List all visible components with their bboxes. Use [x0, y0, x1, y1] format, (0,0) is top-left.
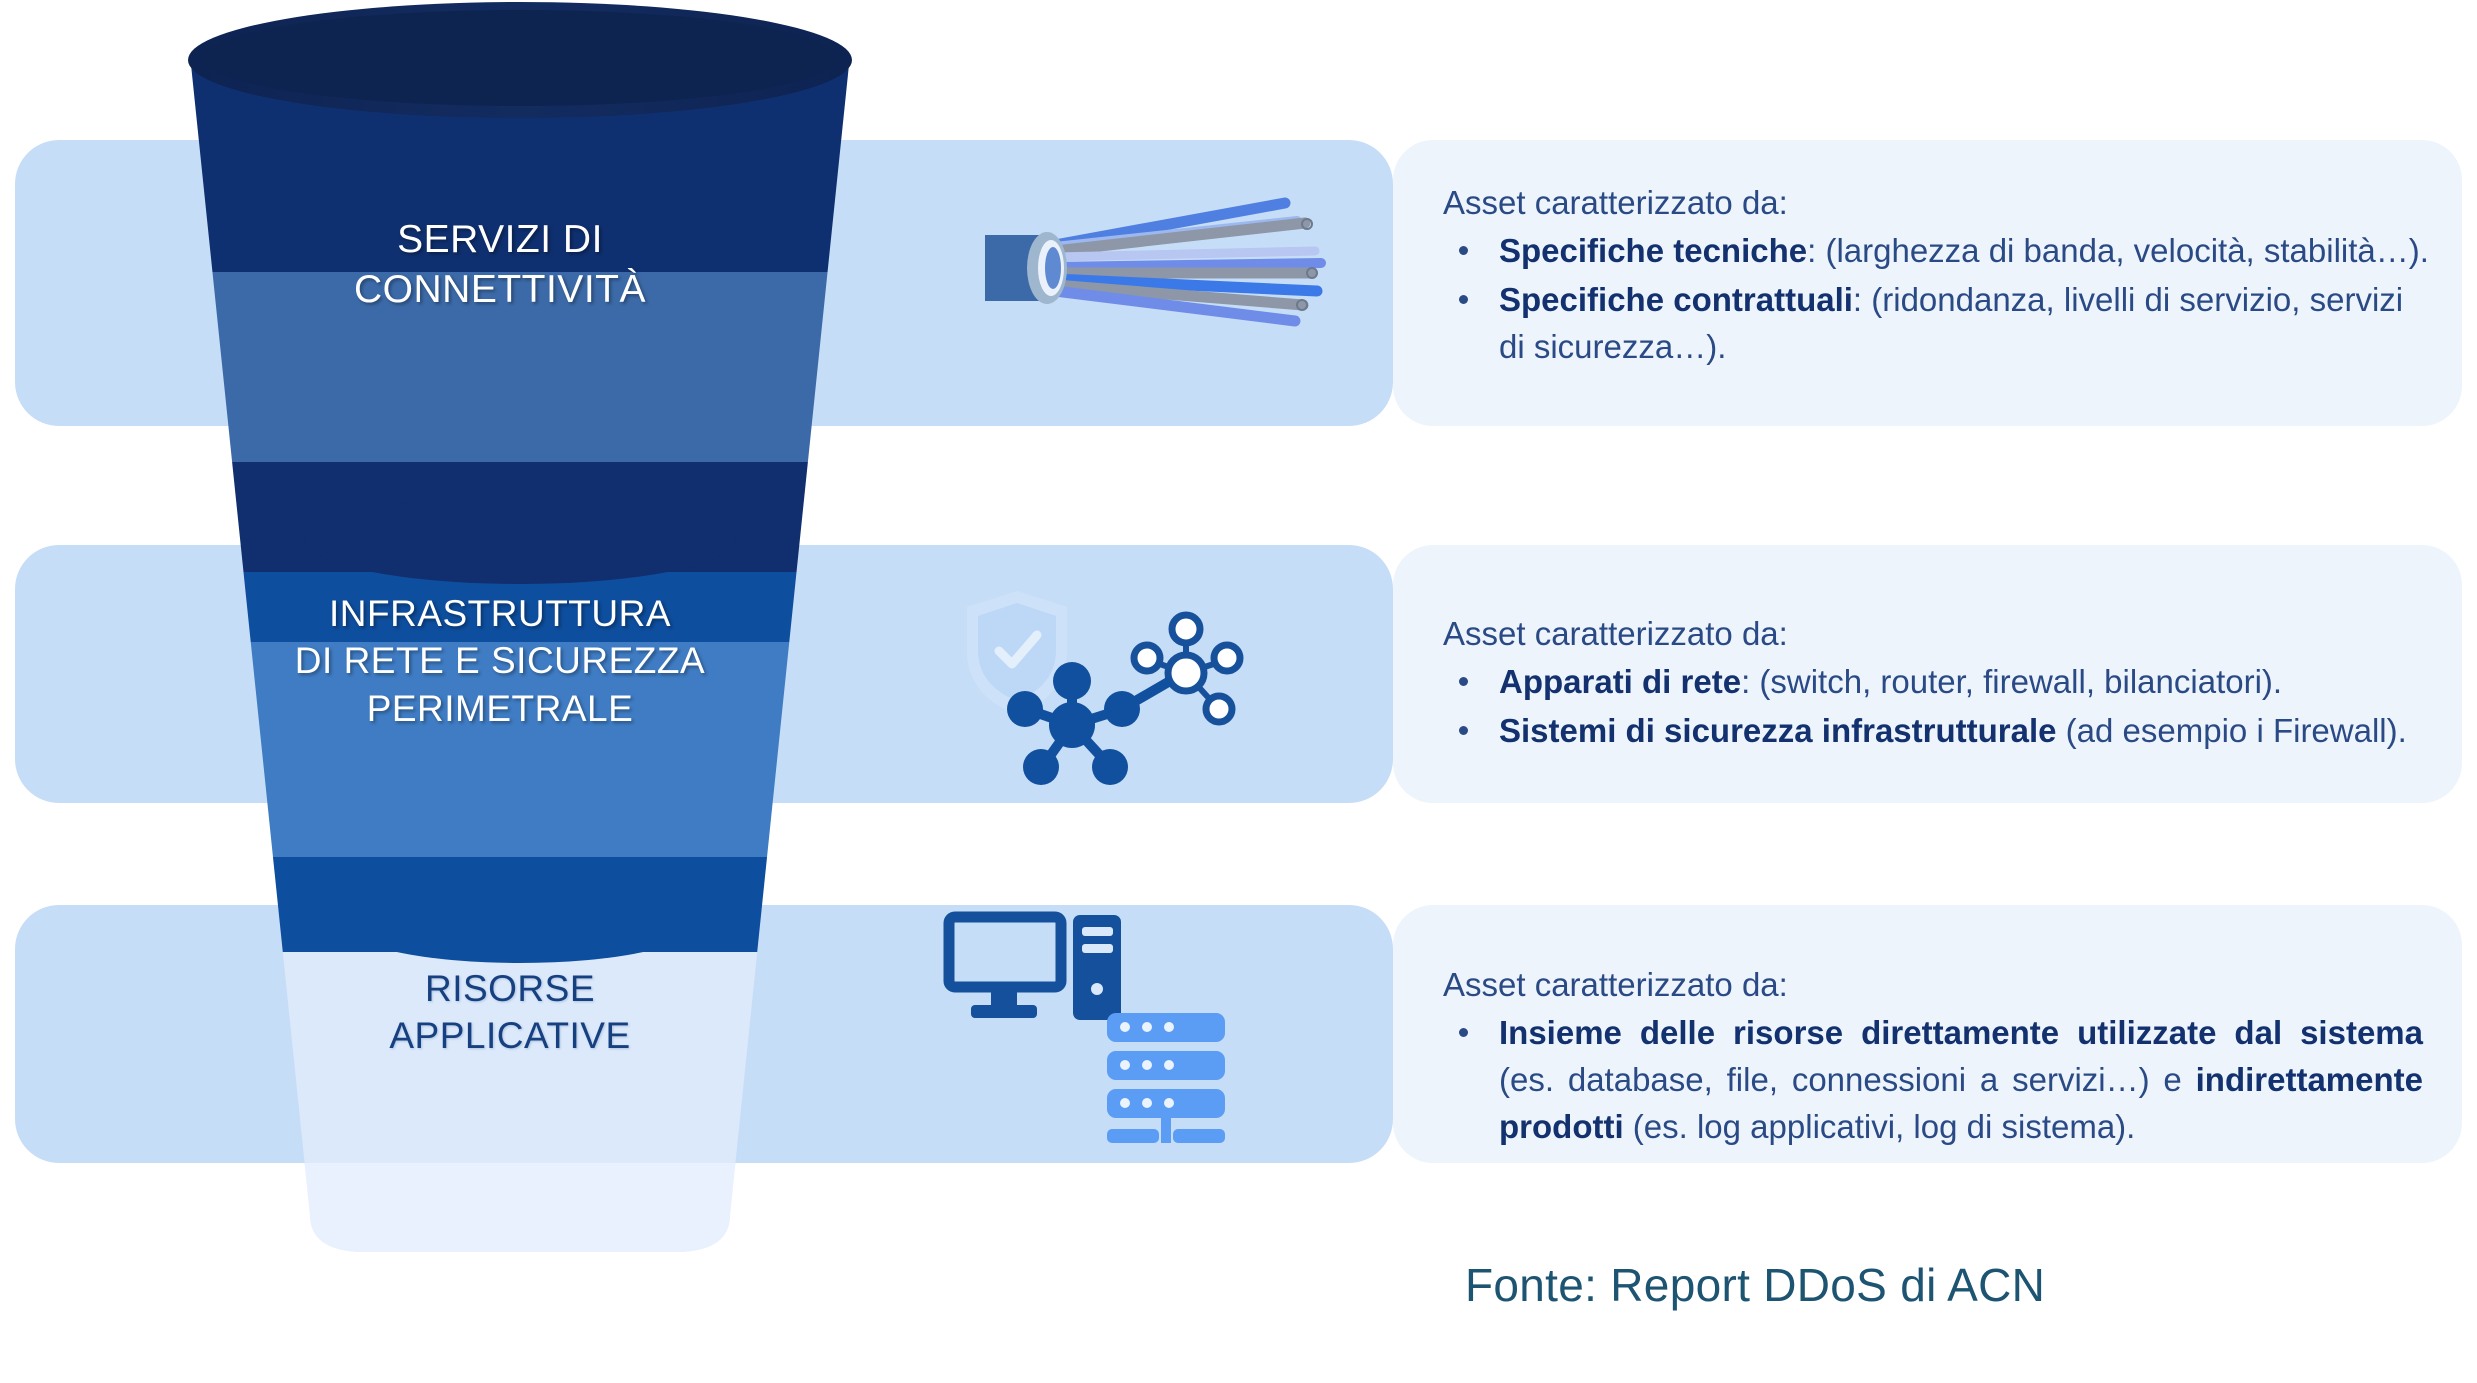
funnel-label-risorse: RISORSE APPLICATIVE — [330, 965, 690, 1060]
text-block-infrastruttura: Asset caratterizzato da: Apparati di ret… — [1443, 613, 2433, 757]
intro-text: Asset caratterizzato da: — [1443, 182, 2433, 224]
bullet-rest: (es. database, file, connessioni a servi… — [1499, 1061, 2196, 1098]
text-block-risorse: Asset caratterizzato da: Insieme delle r… — [1443, 964, 2423, 1153]
network-shield-icon — [955, 585, 1285, 805]
funnel-label-infrastruttura: INFRASTRUTTURA DI RETE E SICUREZZA PERIM… — [185, 590, 815, 732]
bullet-list: Specifiche tecniche: (larghezza di banda… — [1443, 228, 2433, 371]
computer-server-icon — [935, 905, 1275, 1150]
source-caption: Fonte: Report DDoS di ACN — [1465, 1258, 2045, 1312]
bullet-rest: : (switch, router, firewall, bilanciator… — [1741, 663, 2282, 700]
bullet-rest: : (larghezza di banda, velocità, stabili… — [1807, 232, 2429, 269]
bullet-rest-2: (es. log applicativi, log di sistema). — [1624, 1108, 2136, 1145]
bullet-bold: Insieme delle risorse direttamente utili… — [1499, 1014, 2423, 1051]
bullet-list: Insieme delle risorse direttamente utili… — [1443, 1010, 2423, 1151]
list-item: Apparati di rete: (switch, router, firew… — [1443, 659, 2433, 706]
bullet-bold: Apparati di rete — [1499, 663, 1741, 700]
list-item: Specifiche tecniche: (larghezza di banda… — [1443, 228, 2433, 275]
list-item: Insieme delle risorse direttamente utili… — [1443, 1010, 2423, 1151]
list-item: Specifiche contrattuali: (ridondanza, li… — [1443, 277, 2433, 371]
intro-text: Asset caratterizzato da: — [1443, 613, 2433, 655]
text-block-connettivita: Asset caratterizzato da: Specifiche tecn… — [1443, 182, 2433, 373]
intro-text: Asset caratterizzato da: — [1443, 964, 2423, 1006]
bullet-list: Apparati di rete: (switch, router, firew… — [1443, 659, 2433, 755]
fiber-optic-cable-icon — [985, 195, 1345, 360]
funnel-label-connettivita: SERVIZI DI CONNETTIVITÀ — [180, 215, 820, 315]
bullet-bold: Specifiche tecniche — [1499, 232, 1807, 269]
bullet-bold: Sistemi di sicurezza infrastrutturale — [1499, 712, 2057, 749]
bullet-bold: Specifiche contrattuali — [1499, 281, 1853, 318]
diagram-canvas: SERVIZI DI CONNETTIVITÀ INFRASTRUTTURA D… — [0, 0, 2477, 1383]
list-item: Sistemi di sicurezza infrastrutturale (a… — [1443, 708, 2433, 755]
bullet-rest: (ad esempio i Firewall). — [2057, 712, 2407, 749]
